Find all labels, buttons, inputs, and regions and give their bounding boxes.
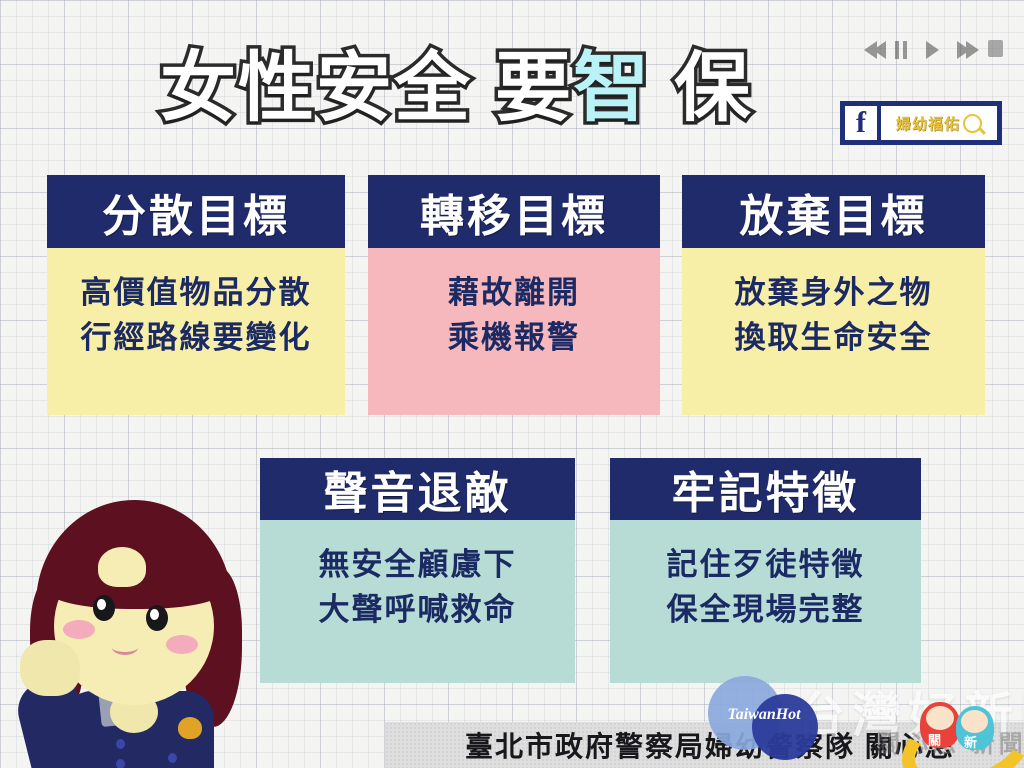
facebook-badge[interactable]: f 婦幼福佑 (840, 101, 1002, 145)
card-heading: 牢記特徵 (610, 458, 921, 520)
stop-icon[interactable] (988, 40, 1006, 60)
card-line: 記住歹徒特徵 (667, 542, 865, 587)
card-body: 高價值物品分散 行經路線要變化 (47, 248, 345, 415)
tip-card-shout: 聲音退敵 無安全顧慮下 大聲呼喊救命 (260, 458, 575, 683)
facebook-page-label: 婦幼福佑 (896, 113, 960, 134)
mascot-cheek-right (166, 635, 198, 654)
card-line: 保全現場完整 (667, 587, 865, 632)
facebook-badge-text: 婦幼福佑 (881, 113, 997, 134)
card-line: 放棄身外之物 (735, 270, 933, 315)
card-line: 行經路線要變化 (81, 315, 312, 360)
card-heading: 聲音退敵 (260, 458, 575, 520)
card-line: 藉故離開 (448, 270, 580, 315)
tip-card-abandon: 放棄目標 放棄身外之物 換取生命安全 (682, 175, 985, 415)
card-heading: 轉移目標 (368, 175, 660, 248)
mascot-hand (20, 640, 80, 696)
tip-card-disperse: 分散目標 高價值物品分散 行經路線要變化 (47, 175, 345, 415)
page-title: 女性安全 要智 保 (160, 46, 752, 132)
footer-credit: 臺北市政府警察局婦幼警察隊 關心您 (465, 725, 885, 765)
card-body: 記住歹徒特徵 保全現場完整 (610, 520, 921, 683)
title-suffix: 保 (651, 46, 752, 131)
mascot-button (116, 759, 125, 768)
mascot-fringe-gap (98, 547, 146, 587)
tip-card-transfer: 轉移目標 藉故離開 乘機報警 (368, 175, 660, 415)
card-heading: 分散目標 (47, 175, 345, 248)
card-line: 無安全顧慮下 (319, 542, 517, 587)
card-heading: 放棄目標 (682, 175, 985, 248)
card-line: 高價值物品分散 (81, 270, 312, 315)
mascot-cheek-left (63, 620, 95, 639)
title-row: 女性安全 要智 保 (0, 46, 860, 132)
play-icon[interactable] (926, 40, 944, 60)
card-body: 無安全顧慮下 大聲呼喊救命 (260, 520, 575, 683)
title-highlight-char: 智 (573, 46, 651, 131)
card-line: 大聲呼喊救命 (319, 587, 517, 632)
poster-canvas: 女性安全 要智 保 f 婦幼福佑 分散目標 高價值物品分散 行經路線要變化 (0, 0, 1024, 768)
mascot-eye-left (93, 595, 115, 621)
search-icon (963, 114, 982, 133)
mascot-mouth (112, 640, 138, 655)
media-controls[interactable] (864, 40, 1006, 60)
rewind-icon[interactable] (864, 40, 882, 60)
mascot-eye-right (146, 605, 168, 631)
fast-forward-icon[interactable] (957, 40, 975, 60)
facebook-icon: f (845, 106, 881, 140)
card-body: 放棄身外之物 換取生命安全 (682, 248, 985, 415)
card-line: 乘機報警 (448, 315, 580, 360)
mascot-button (116, 739, 125, 749)
pause-icon[interactable] (895, 40, 913, 60)
mascot-button (168, 753, 177, 763)
card-body: 藉故離開 乘機報警 (368, 248, 660, 415)
card-line: 換取生命安全 (735, 315, 933, 360)
title-prefix: 女性安全 要 (160, 46, 573, 131)
mascot-badge-icon (178, 717, 202, 739)
policewoman-mascot (8, 495, 258, 768)
tip-card-remember: 牢記特徵 記住歹徒特徵 保全現場完整 (610, 458, 921, 683)
